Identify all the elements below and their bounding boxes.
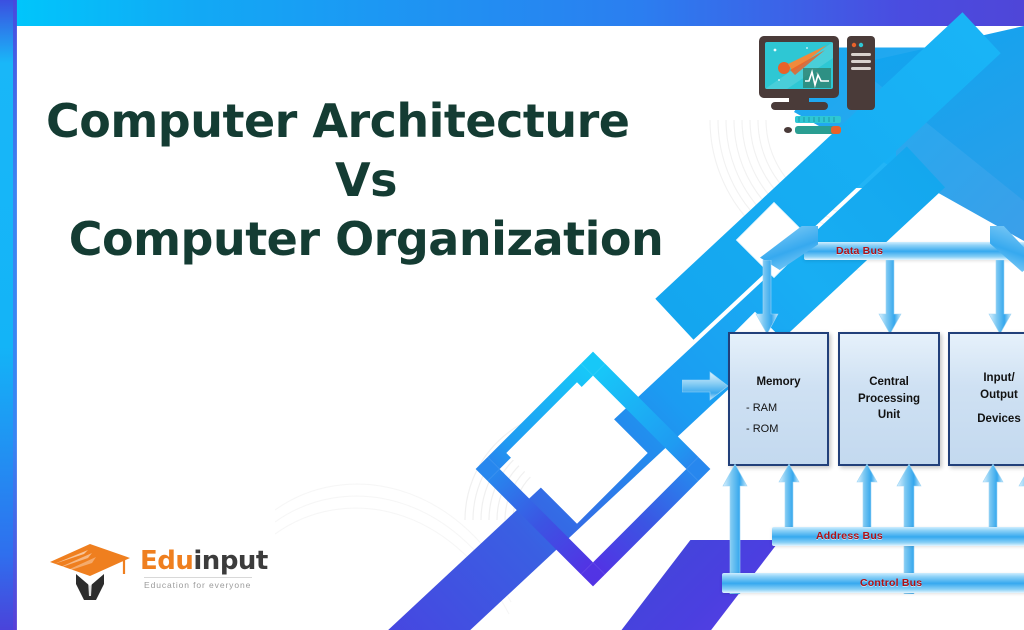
logo-input-text: input [193,546,267,576]
memory-title: Memory [756,376,800,388]
page-title: Computer Architecture Vs Computer Organi… [46,92,686,269]
memory-line-ram: - RAM [730,398,777,419]
cpu-title-line3: Unit [878,407,900,424]
unit-box-cpu: Central Processing Unit [838,332,940,466]
infographic-canvas: Data Bus [0,0,1024,630]
memory-line-rom: - ROM [730,419,778,440]
logo-wordmark: Eduinput [140,546,268,576]
desktop-computer-icon [757,28,879,138]
io-title-line1: Input/ [983,370,1014,387]
cpu-title-line1: Central [869,374,909,391]
computer-block-diagram: Data Bus [700,232,1024,602]
title-line-2: Vs [46,151,686,210]
decorative-arcs-bottom [275,470,515,620]
left-accent-bar-inner [13,0,17,630]
logo-tagline: Education for everyone [144,577,252,590]
address-bus-arrow-io [982,464,1004,528]
address-bus-label: Address Bus [816,530,883,542]
logo-edu-text: Edu [140,546,193,576]
memory-input-arrow [682,369,730,403]
io-title-line3: Devices [977,411,1020,428]
title-line-1: Computer Architecture [46,92,686,151]
address-bus-arrow-memory [778,464,800,528]
graduation-cap-icon [44,540,136,602]
address-bus-bar [772,527,1024,546]
data-bus-label: Data Bus [836,245,883,257]
cpu-title-line2: Processing [858,391,920,408]
data-bus-arrow-cpu [878,260,902,336]
brand-logo[interactable]: Eduinput Education for everyone [44,540,244,606]
unit-box-io: Input/ Output Devices [948,332,1024,466]
control-bus-label: Control Bus [860,577,922,589]
top-accent-bar [14,0,1024,26]
title-line-3: Computer Organization [46,210,686,269]
io-title-line2: Output [980,387,1018,404]
data-bus-arrow-memory [755,260,779,336]
data-bus-arrow-io [988,260,1012,336]
unit-box-memory: Memory - RAM - ROM [728,332,829,466]
address-bus-arrow-cpu [856,464,878,528]
